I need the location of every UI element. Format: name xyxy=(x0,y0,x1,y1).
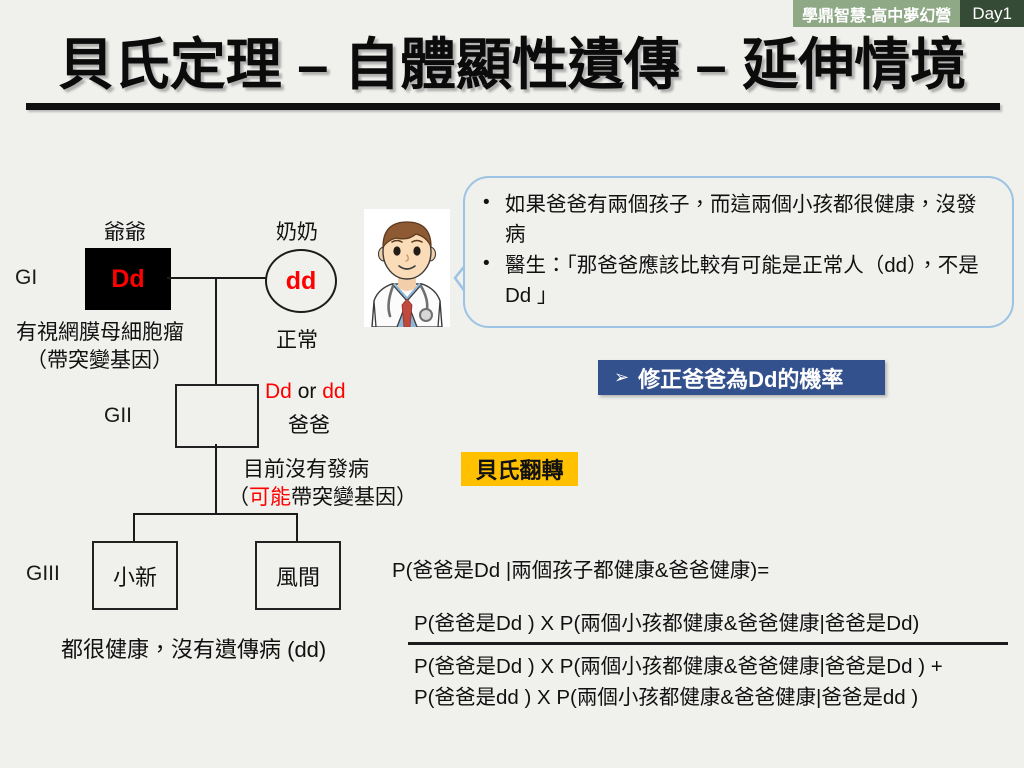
revise-probability-label: 修正爸爸為Dd的機率 xyxy=(638,362,843,394)
father-genotype: Dd or dd xyxy=(265,380,346,404)
father-symbol xyxy=(175,384,259,448)
father-note-line2: （可能帶突變基因） xyxy=(228,481,417,511)
chevron-right-icon: ➢ xyxy=(614,367,629,388)
revise-probability-banner: ➢ 修正爸爸為Dd的機率 xyxy=(598,360,885,395)
generation-label-giii: GIII xyxy=(26,562,60,586)
slide-canvas: 學鼎智慧-高中夢幻營 Day1 貝氏定理 – 自體顯性遺傳 – 延伸情境 GI … xyxy=(0,0,1024,768)
doctor-avatar xyxy=(364,209,450,327)
grandfather-genotype: Dd xyxy=(111,265,144,294)
father-note-paren-close: ） xyxy=(396,486,417,509)
speech-bubble-bullet-1: 如果爸爸有兩個孩子，而這兩個小孩都很健康，沒發病 xyxy=(505,190,996,249)
ribbon-day-label: Day1 xyxy=(960,0,1024,27)
sibship-line xyxy=(133,513,298,515)
father-genotype-dd2: dd xyxy=(322,380,345,403)
child-name-2: 風間 xyxy=(276,560,320,592)
grandfather-note-line1: 有視網膜母細胞瘤 xyxy=(16,316,184,346)
grandmother-note: 正常 xyxy=(276,324,318,354)
formula-fraction-bar xyxy=(408,642,1008,645)
father-note-highlight: 可能 xyxy=(249,486,291,509)
speech-bubble-bullet-2: 醫生：「那爸爸應該比較有可能是正常人（dd），不是 Dd 」 xyxy=(505,251,996,310)
child-symbol-2: 風間 xyxy=(255,541,341,610)
sibling-drop-line-1 xyxy=(133,513,135,541)
generation-label-gi: GI xyxy=(15,266,37,290)
father-genotype-or: or xyxy=(292,380,322,403)
bayes-flip-tag: 貝氏翻轉 xyxy=(461,452,578,486)
father-note-line1: 目前沒有發病 xyxy=(243,453,369,483)
grandfather-name-label: 爺爺 xyxy=(104,216,146,246)
descent-line-gi-gii xyxy=(215,277,217,384)
grandmother-genotype: dd xyxy=(286,267,317,296)
formula-denominator: P(爸爸是Dd ) X P(兩個小孩都健康&爸爸健康|爸爸是Dd ) + P(爸… xyxy=(392,651,1024,715)
descent-line-gii-giii xyxy=(215,444,217,514)
father-note-rest: 帶突變基因 xyxy=(291,486,396,509)
grandmother-name-label: 奶奶 xyxy=(276,216,318,246)
speech-bubble-list: 如果爸爸有兩個孩子，而這兩個小孩都很健康，沒發病 醫生：「那爸爸應該比較有可能是… xyxy=(465,178,1012,311)
formula-lhs: P(爸爸是Dd |兩個孩子都健康&爸爸健康)= xyxy=(392,553,1024,583)
generation-label-gii: GII xyxy=(104,404,132,428)
sibling-drop-line-2 xyxy=(296,513,298,541)
formula-denominator-line-2: P(爸爸是dd ) X P(兩個小孩都健康&爸爸健康|爸爸是dd ) xyxy=(414,682,1024,714)
grandfather-symbol: Dd xyxy=(85,248,171,310)
children-health-note: 都很健康，沒有遺傳病 (dd) xyxy=(61,632,326,664)
speech-bubble: 如果爸爸有兩個孩子，而這兩個小孩都很健康，沒發病 醫生：「那爸爸應該比較有可能是… xyxy=(463,176,1014,328)
bayes-formula: P(爸爸是Dd |兩個孩子都健康&爸爸健康)= P(爸爸是Dd ) X P(兩個… xyxy=(392,553,1024,714)
grandmother-symbol: dd xyxy=(265,249,337,313)
child-name-1: 小新 xyxy=(113,560,157,592)
father-note-paren-open: （ xyxy=(228,486,249,509)
header-ribbon: 學鼎智慧-高中夢幻營 Day1 xyxy=(793,0,1024,27)
father-genotype-dd: Dd xyxy=(265,380,292,403)
child-symbol-1: 小新 xyxy=(92,541,178,610)
formula-numerator: P(爸爸是Dd ) X P(兩個小孩都健康&爸爸健康|爸爸是Dd) xyxy=(392,606,1024,636)
ribbon-brand-label: 學鼎智慧-高中夢幻營 xyxy=(793,0,960,27)
father-name-label: 爸爸 xyxy=(288,409,330,439)
grandfather-note-line2: （帶突變基因） xyxy=(26,344,173,374)
formula-denominator-line-1: P(爸爸是Dd ) X P(兩個小孩都健康&爸爸健康|爸爸是Dd ) + xyxy=(414,651,1024,683)
